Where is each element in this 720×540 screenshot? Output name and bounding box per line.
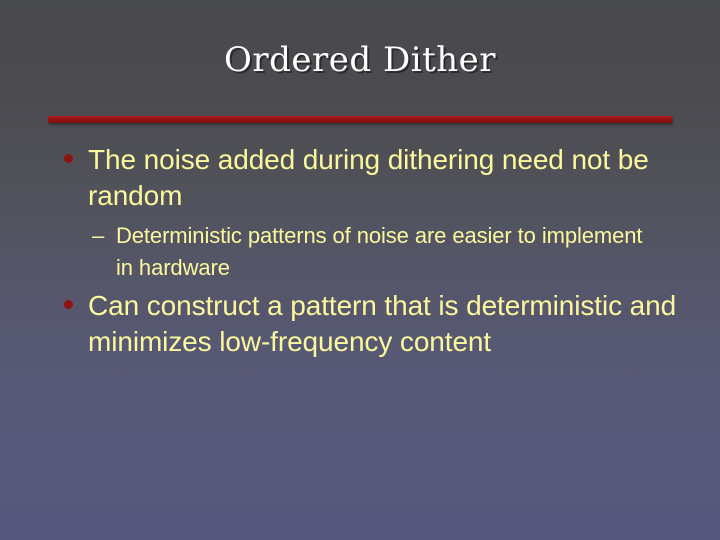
list-item-label: The noise added during dithering need no… (88, 142, 680, 214)
slide-body: The noise added during dithering need no… (0, 142, 720, 360)
slide-canvas: Ordered Dither The noise added during di… (0, 0, 720, 540)
round-bullet-icon (64, 300, 73, 309)
list-item-label: Can construct a pattern that is determin… (88, 288, 680, 360)
list-item-label: Deterministic patterns of noise are easi… (116, 220, 660, 284)
title-area: Ordered Dither (0, 40, 720, 80)
round-bullet-icon (64, 154, 73, 163)
page-title: Ordered Dither (224, 40, 496, 80)
title-underline-rule (48, 116, 672, 123)
list-item: Can construct a pattern that is determin… (0, 288, 720, 360)
list-item: The noise added during dithering need no… (0, 142, 720, 214)
list-item: – Deterministic patterns of noise are ea… (0, 220, 720, 284)
en-dash-bullet-icon: – (92, 220, 110, 252)
